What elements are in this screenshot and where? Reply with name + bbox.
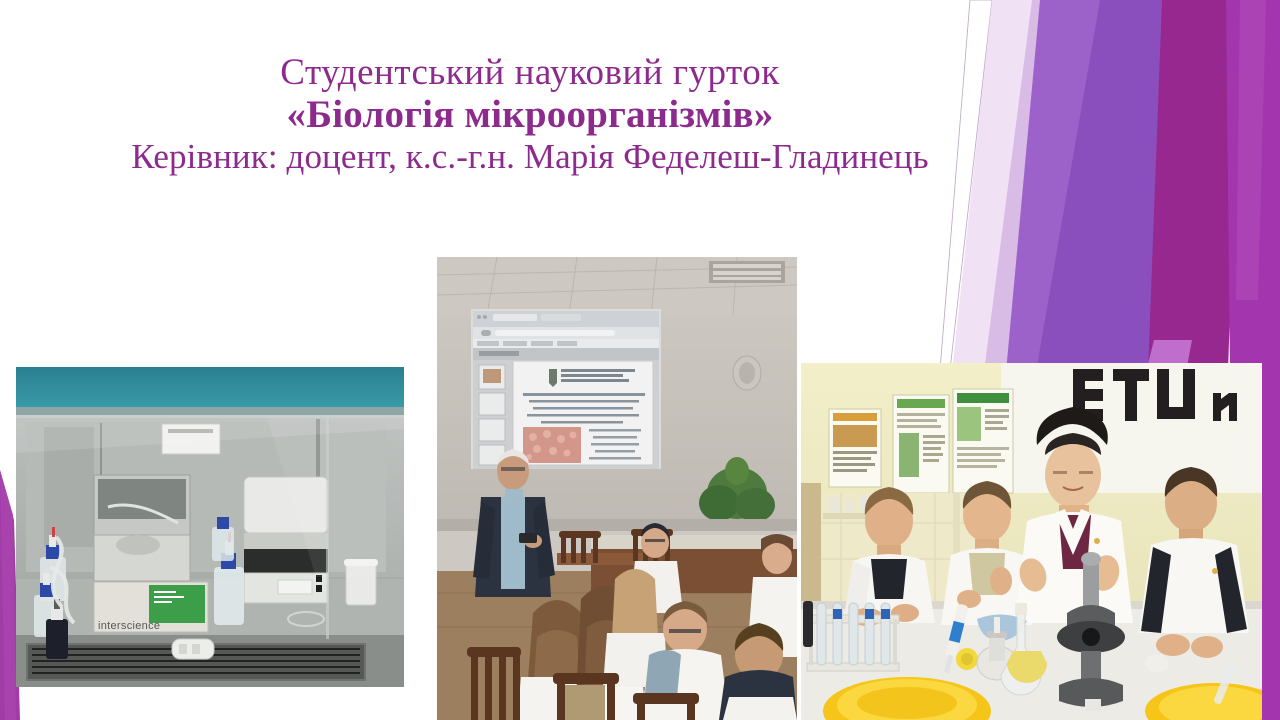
slide-title-block: Студентський науковий гурток «Біологія м… (0, 52, 1060, 176)
photo-students-laboratory (801, 363, 1262, 720)
photo-students-laboratory-graphic (801, 363, 1262, 720)
photo-lecture-presentation-graphic (437, 257, 797, 720)
photo-lecture-presentation (437, 257, 797, 720)
decor-bottom-left-wedge-inner (0, 470, 16, 720)
photo-laminar-flow-hood: interscience (16, 367, 404, 687)
slide-title-line-3: Керівник: доцент, к.с.-г.н. Марія Феделе… (0, 137, 1060, 176)
svg-text:interscience: interscience (98, 620, 160, 632)
photo-laminar-flow-hood-graphic: interscience (16, 367, 404, 687)
decor-right-band-highlight (1236, 0, 1266, 300)
slide-title-line-2: «Біологія мікроорганізмів» (0, 93, 1060, 137)
decor-magenta-panel (1148, 0, 1240, 372)
slide-title-line-1: Студентський науковий гурток (0, 52, 1060, 93)
presentation-slide: Студентський науковий гурток «Біологія м… (0, 0, 1280, 720)
